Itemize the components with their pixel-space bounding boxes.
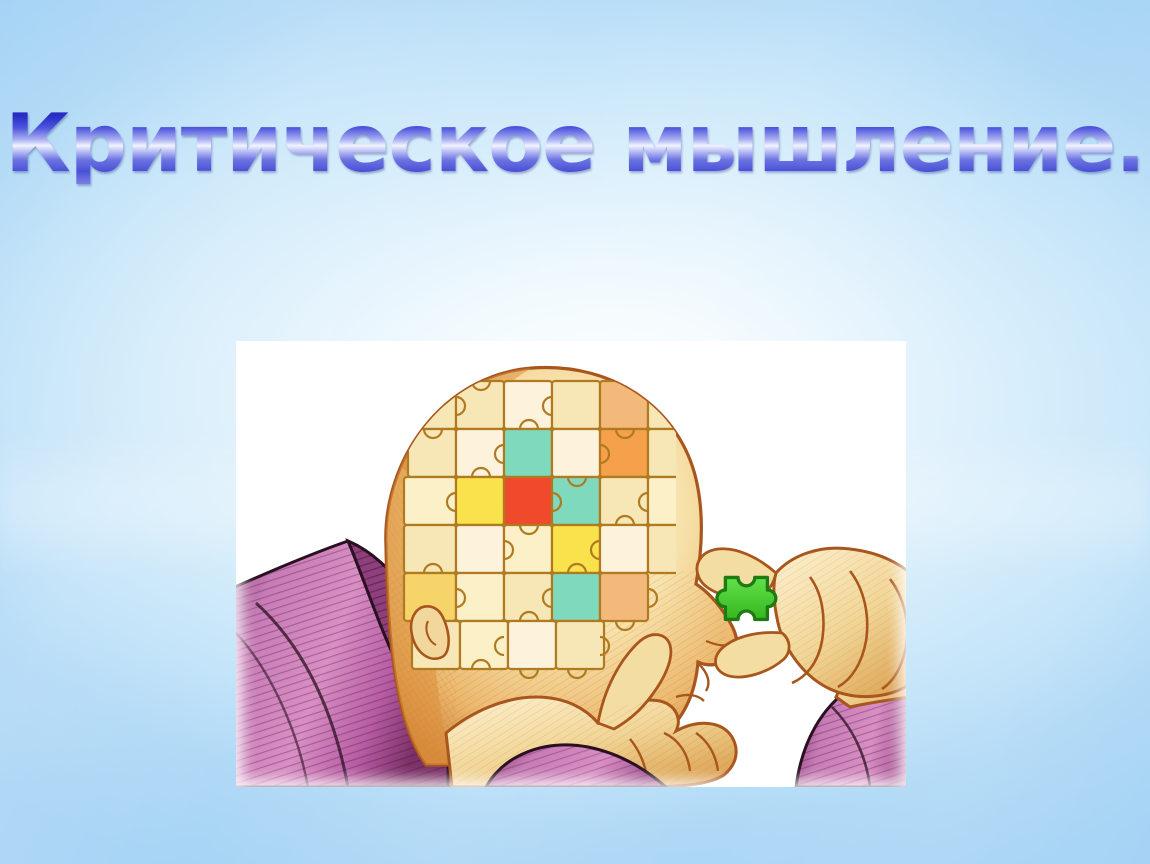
slide-title-placeholder: Критическое мышление.	[60, 92, 1090, 196]
slide-title: Критическое мышление.	[5, 104, 1145, 184]
presentation-slide: Критическое мышление.	[0, 0, 1150, 864]
puzzle-head-illustration	[236, 341, 906, 787]
illustration-panel	[236, 341, 906, 787]
